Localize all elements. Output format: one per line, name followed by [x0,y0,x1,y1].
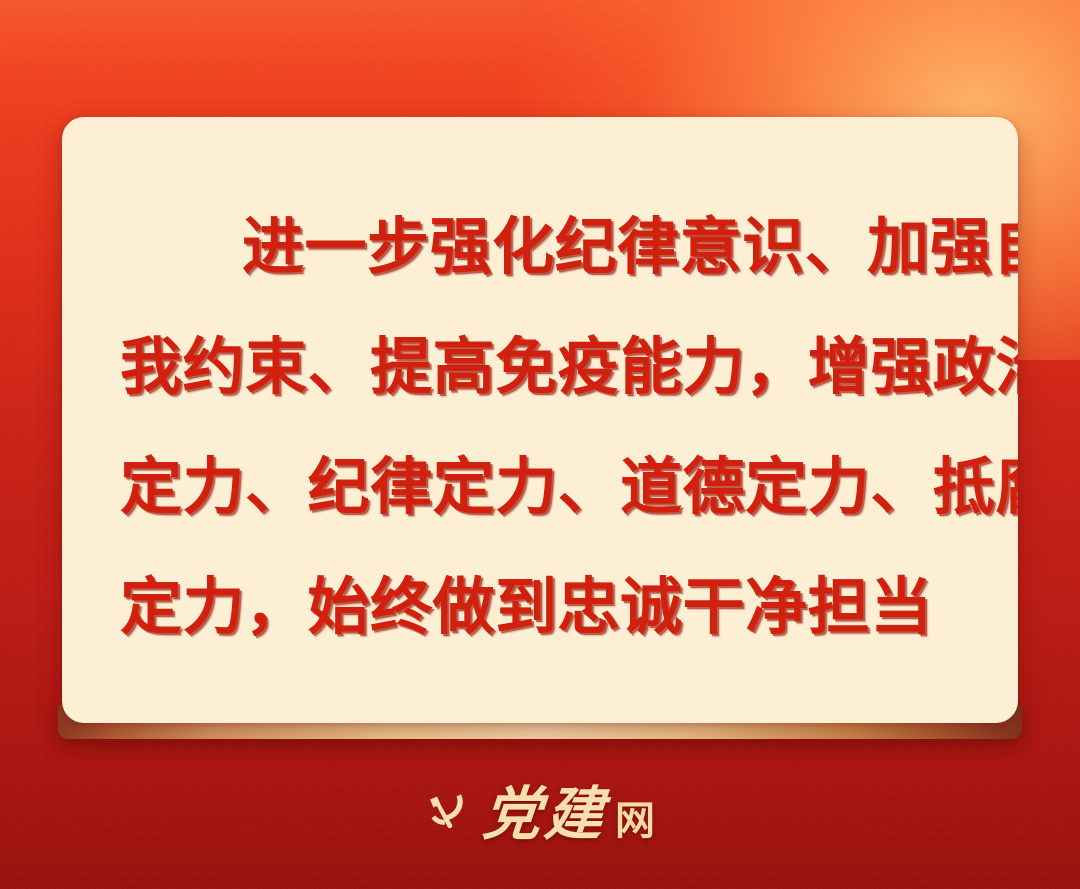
brand-logo: 党建 网 [0,768,1080,860]
quote-char: 化 [492,187,555,307]
quote-char: 政 [933,307,996,427]
quote-char: 终 [370,547,433,667]
brand-name: 党建 网 [483,785,657,843]
quote-char: 提 [370,307,433,427]
quote-char: ， [245,547,308,667]
poster-root: 进一步强化纪律意识、加强自 我约束、提高免疫能力，增强政治 定力、纪律定力、道德… [0,0,1080,889]
quote-line-2: 我约束、提高免疫能力，增强政治 [120,307,960,427]
quote-char: 能 [620,307,683,427]
quote-char: 忠 [558,547,621,667]
quote-char: 抵 [933,427,996,547]
quote-char: 强 [870,307,933,427]
brand-script-text: 党建 [480,785,609,843]
quote-text: 进一步强化纪律意识、加强自 我约束、提高免疫能力，增强政治 定力、纪律定力、道德… [120,187,960,667]
quote-char: 、 [558,427,621,547]
quote-char: 定 [433,427,496,547]
quote-char: 、 [805,187,868,307]
quote-char: 纪 [555,187,618,307]
quote-char: 增 [808,307,871,427]
quote-char: 当 [870,547,933,667]
quote-char: 、 [245,427,308,547]
quote-char: 治 [995,307,1018,427]
quote-char: 我 [120,307,183,427]
quote-char: 德 [683,427,746,547]
quote-char: 强 [930,187,993,307]
quote-char: 束 [245,307,308,427]
quote-char: ， [745,307,808,427]
quote-char: 始 [308,547,371,667]
quote-char: 力 [683,307,746,427]
quote-char: 一 [305,187,368,307]
quote-char: 道 [620,427,683,547]
quote-char: 免 [495,307,558,427]
quote-char: 进 [242,187,305,307]
quote-char: 、 [308,307,371,427]
quote-line-1: 进一步强化纪律意识、加强自 [120,187,960,307]
quote-card-content: 进一步强化纪律意识、加强自 我约束、提高免疫能力，增强政治 定力、纪律定力、道德… [62,117,1018,723]
quote-char: 定 [120,427,183,547]
quote-line-4: 定力，始终做到忠诚干净担当 [120,547,960,667]
quote-char: 力 [183,547,246,667]
quote-card: 进一步强化纪律意识、加强自 我约束、提高免疫能力，增强政治 定力、纪律定力、道德… [62,117,1018,723]
quote-char: 高 [433,307,496,427]
quote-char: 定 [745,427,808,547]
quote-char: 担 [808,547,871,667]
quote-char: 净 [745,547,808,667]
quote-line-3: 定力、纪律定力、道德定力、抵腐 [120,427,960,547]
quote-char: 纪 [308,427,371,547]
quote-char: 强 [430,187,493,307]
quote-char: 定 [120,547,183,667]
quote-card-wrapper: 进一步强化纪律意识、加强自 我约束、提高免疫能力，增强政治 定力、纪律定力、道德… [62,117,1018,723]
quote-char: 意 [680,187,743,307]
quote-char: 力 [183,427,246,547]
quote-char: 干 [683,547,746,667]
quote-char: 疫 [558,307,621,427]
quote-char: 力 [495,427,558,547]
quote-char: 律 [617,187,680,307]
quote-char: 腐 [995,427,1018,547]
hammer-and-sickle-emblem-icon [423,793,467,835]
brand-suffix-text: 网 [615,801,657,841]
quote-char: 、 [870,427,933,547]
quote-char: 加 [867,187,930,307]
quote-char: 自 [992,187,1018,307]
quote-char: 步 [367,187,430,307]
quote-char: 识 [742,187,805,307]
quote-char: 到 [495,547,558,667]
quote-char: 律 [370,427,433,547]
quote-char: 做 [433,547,496,667]
top-glow-band [0,0,1080,130]
quote-char: 诚 [620,547,683,667]
quote-char: 力 [808,427,871,547]
quote-char: 约 [183,307,246,427]
